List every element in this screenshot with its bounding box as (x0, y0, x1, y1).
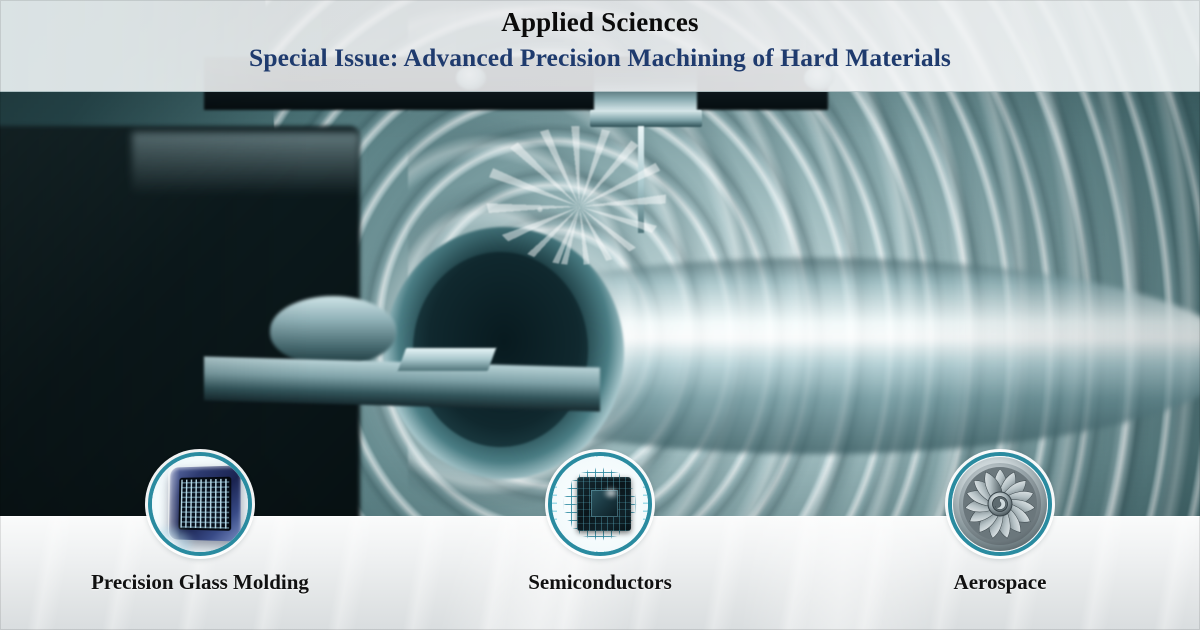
badge-circle[interactable] (548, 452, 652, 556)
chip-specular (603, 487, 619, 499)
badge-circle[interactable] (148, 452, 252, 556)
badge-label: Semiconductors (528, 570, 672, 595)
badge-label: Aerospace (954, 570, 1047, 595)
chip-package (577, 477, 631, 531)
glass-mold-specular (156, 524, 196, 554)
jet-turbine-fan-icon (950, 452, 1050, 556)
glass-mold-cavity (178, 477, 231, 531)
journal-title: Applied Sciences (501, 6, 698, 38)
badge-circle[interactable] (948, 452, 1052, 556)
microchip-circuit-icon (552, 452, 648, 556)
special-issue-subtitle: Special Issue: Advanced Precision Machin… (249, 41, 951, 75)
glass-mold-lens-array (180, 479, 229, 529)
glass-mold-array-icon (152, 452, 248, 556)
badge-aerospace[interactable]: Aerospace (800, 452, 1200, 630)
badge-label: Precision Glass Molding (91, 570, 309, 595)
badge-precision-glass-molding[interactable]: Precision Glass Molding (0, 452, 400, 630)
badge-semiconductors[interactable]: Semiconductors (400, 452, 800, 630)
header-bar: Applied Sciences Special Issue: Advanced… (0, 0, 1200, 92)
topic-badge-row: Precision Glass Molding Semiconductors (0, 452, 1200, 630)
special-issue-banner: Applied Sciences Special Issue: Advanced… (0, 0, 1200, 630)
